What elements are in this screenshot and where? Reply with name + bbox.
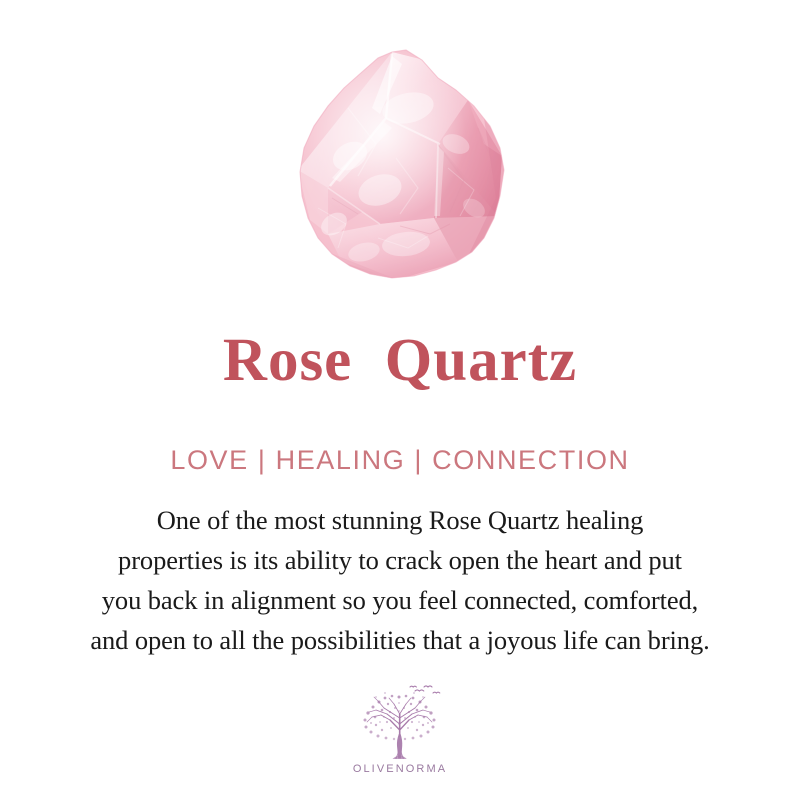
product-card: Rose Quartz LOVE | HEALING | CONNECTION … (0, 0, 800, 800)
rose-quartz-crystal-image (288, 48, 512, 286)
description-line: properties is its ability to crack open … (30, 540, 770, 580)
brand-wordmark: OLIVENORMA (353, 763, 447, 775)
tree-of-life-icon (354, 684, 446, 760)
brand-logo: OLIVENORMA (0, 684, 800, 775)
product-title: Rose Quartz (0, 330, 800, 391)
crystal-body (288, 48, 512, 286)
crystal-image-container (0, 0, 800, 300)
description-line: and open to all the possibilities that a… (30, 620, 770, 660)
description-line: you back in alignment so you feel connec… (30, 580, 770, 620)
product-keywords-subtitle: LOVE | HEALING | CONNECTION (0, 446, 800, 476)
product-description: One of the most stunning Rose Quartz hea… (30, 500, 770, 660)
birds-icon (410, 686, 440, 693)
description-line: One of the most stunning Rose Quartz hea… (30, 500, 770, 540)
